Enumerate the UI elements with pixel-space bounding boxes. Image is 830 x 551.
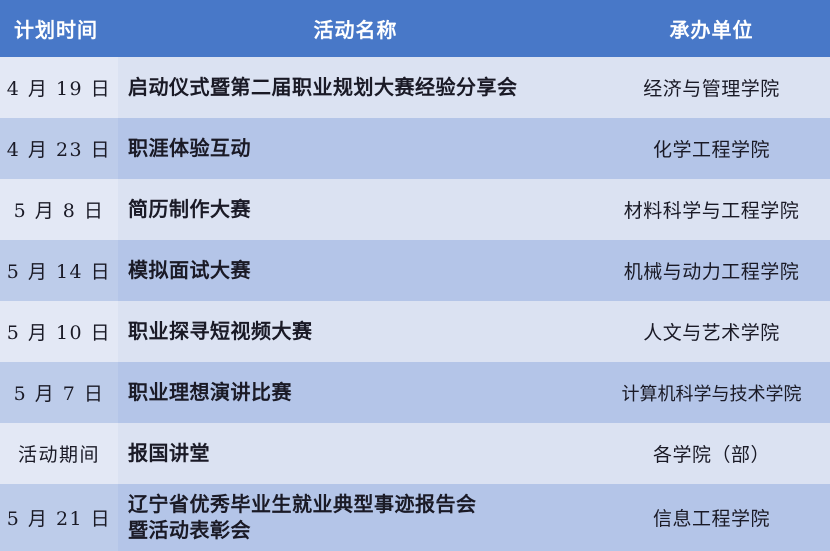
table-row: 4 月 19 日 启动仪式暨第二届职业规划大赛经验分享会 经济与管理学院 <box>0 57 830 118</box>
activity-name-line: 辽宁省优秀毕业生就业典型事迹报告会 <box>128 492 477 518</box>
column-header-activity-name: 活动名称 <box>118 14 593 43</box>
activity-name-line: 职业探寻短视频大赛 <box>128 319 313 345</box>
activity-name-line: 简历制作大赛 <box>128 197 251 223</box>
cell-organizing-unit: 化学工程学院 <box>593 118 830 179</box>
cell-activity-name: 报国讲堂 <box>118 423 593 484</box>
cell-organizing-unit: 计算机科学与技术学院 <box>593 362 830 423</box>
cell-plan-time: 5 月 8 日 <box>0 179 118 240</box>
cell-activity-name: 启动仪式暨第二届职业规划大赛经验分享会 <box>118 57 593 118</box>
activity-name-line: 启动仪式暨第二届职业规划大赛经验分享会 <box>128 75 518 101</box>
cell-activity-name: 职业理想演讲比赛 <box>118 362 593 423</box>
table-row: 5 月 8 日 简历制作大赛 材料科学与工程学院 <box>0 179 830 240</box>
cell-organizing-unit: 经济与管理学院 <box>593 57 830 118</box>
cell-plan-time: 4 月 19 日 <box>0 57 118 118</box>
schedule-table: 计划时间 活动名称 承办单位 4 月 19 日 启动仪式暨第二届职业规划大赛经验… <box>0 0 830 549</box>
cell-activity-name: 职涯体验互动 <box>118 118 593 179</box>
activity-name-line: 职业理想演讲比赛 <box>128 380 292 406</box>
cell-organizing-unit: 材料科学与工程学院 <box>593 179 830 240</box>
activity-name-multiline: 辽宁省优秀毕业生就业典型事迹报告会 暨活动表彰会 <box>128 492 477 543</box>
activity-name-line: 职涯体验互动 <box>128 136 251 162</box>
cell-organizing-unit: 人文与艺术学院 <box>593 301 830 362</box>
table-row: 活动期间 报国讲堂 各学院（部） <box>0 423 830 484</box>
activity-name-line: 模拟面试大赛 <box>128 258 251 284</box>
table-row: 4 月 23 日 职涯体验互动 化学工程学院 <box>0 118 830 179</box>
cell-activity-name: 职业探寻短视频大赛 <box>118 301 593 362</box>
activity-name-line: 暨活动表彰会 <box>128 518 477 544</box>
column-header-plan-time: 计划时间 <box>0 14 118 43</box>
cell-activity-name: 辽宁省优秀毕业生就业典型事迹报告会 暨活动表彰会 <box>118 484 593 551</box>
column-header-organizing-unit: 承办单位 <box>593 14 830 43</box>
activity-name-line: 报国讲堂 <box>128 441 210 467</box>
cell-organizing-unit: 各学院（部） <box>593 423 830 484</box>
table-row: 5 月 7 日 职业理想演讲比赛 计算机科学与技术学院 <box>0 362 830 423</box>
table-row: 5 月 21 日 辽宁省优秀毕业生就业典型事迹报告会 暨活动表彰会 信息工程学院 <box>0 484 830 551</box>
cell-organizing-unit: 机械与动力工程学院 <box>593 240 830 301</box>
table-body: 4 月 19 日 启动仪式暨第二届职业规划大赛经验分享会 经济与管理学院 4 月… <box>0 57 830 551</box>
cell-plan-time: 4 月 23 日 <box>0 118 118 179</box>
cell-plan-time: 5 月 10 日 <box>0 301 118 362</box>
cell-organizing-unit: 信息工程学院 <box>593 484 830 551</box>
table-row: 5 月 14 日 模拟面试大赛 机械与动力工程学院 <box>0 240 830 301</box>
cell-plan-time: 5 月 21 日 <box>0 484 118 551</box>
cell-plan-time: 5 月 14 日 <box>0 240 118 301</box>
table-header-row: 计划时间 活动名称 承办单位 <box>0 0 830 57</box>
table-row: 5 月 10 日 职业探寻短视频大赛 人文与艺术学院 <box>0 301 830 362</box>
cell-plan-time: 5 月 7 日 <box>0 362 118 423</box>
cell-activity-name: 模拟面试大赛 <box>118 240 593 301</box>
cell-activity-name: 简历制作大赛 <box>118 179 593 240</box>
cell-plan-time: 活动期间 <box>0 423 118 484</box>
